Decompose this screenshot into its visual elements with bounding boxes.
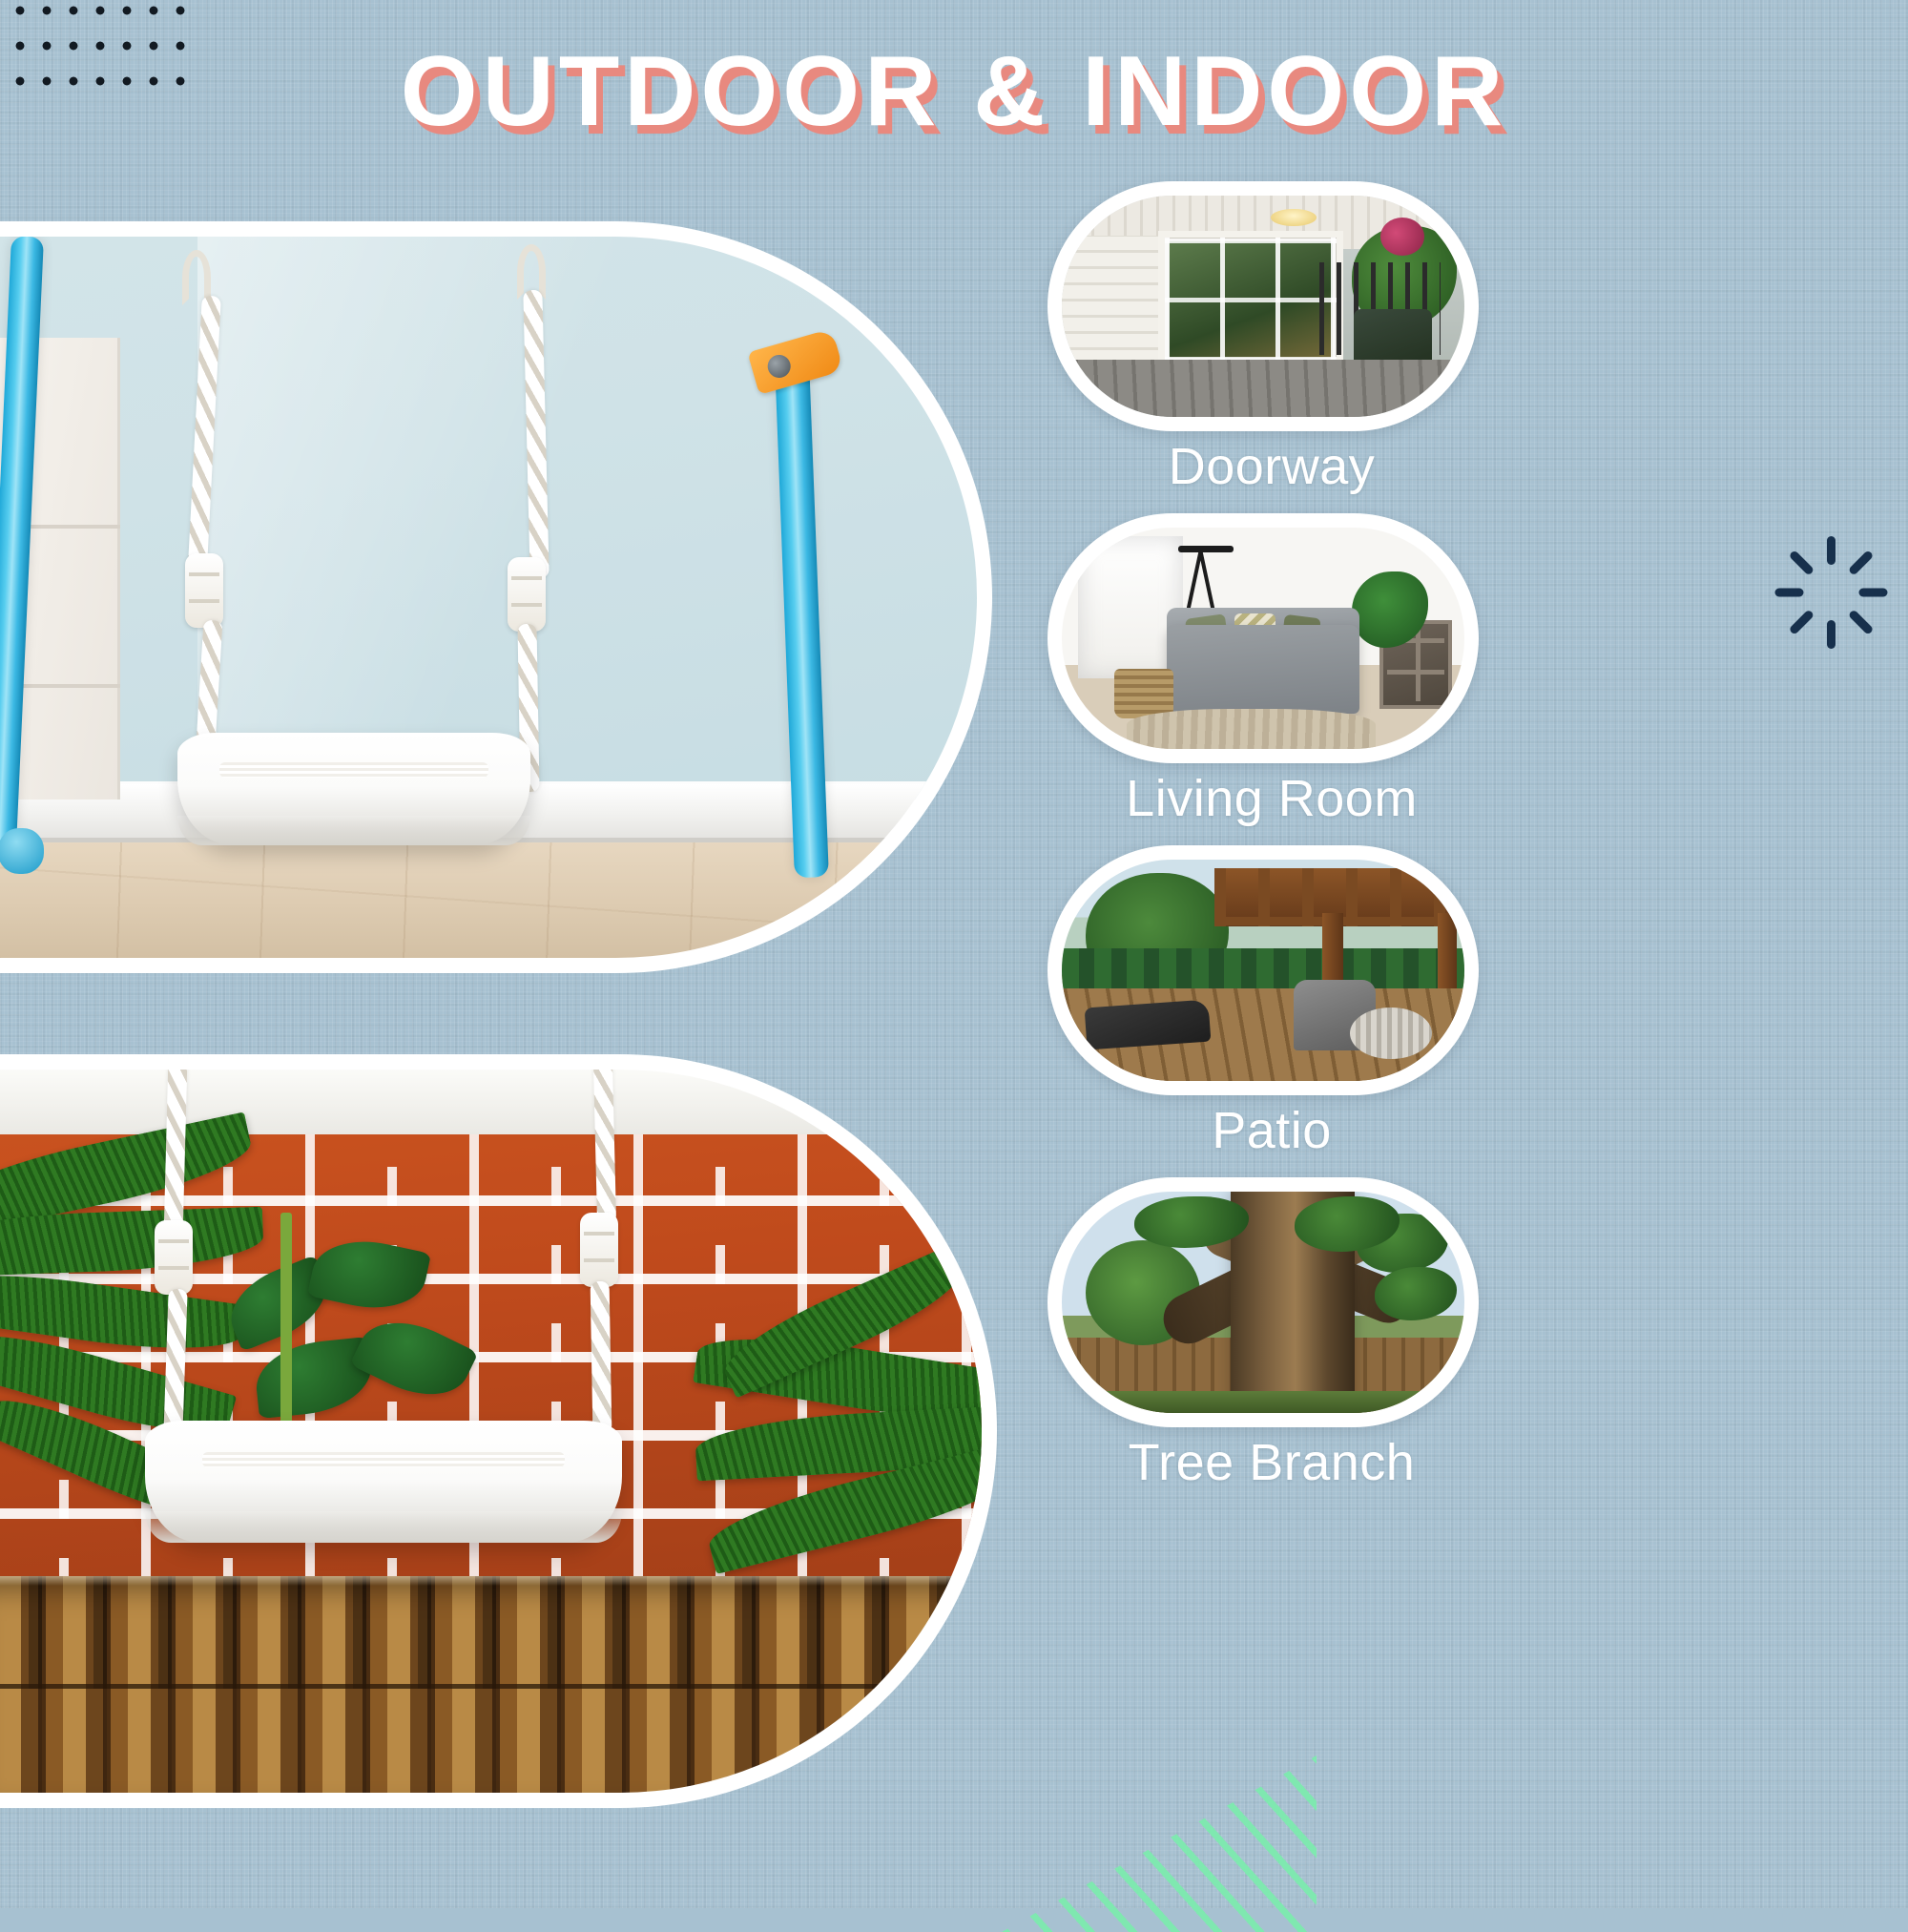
- sunburst-decoration: [1761, 523, 1900, 662]
- usage-item-tree-branch[interactable]: Tree Branch: [1047, 1177, 1496, 1492]
- page-title-container: OUTDOOR & INDOOR: [0, 40, 1908, 144]
- sunburst-ray: [1827, 620, 1835, 649]
- indoor-swing-photo-image: [0, 237, 977, 958]
- doorway-scene: [1062, 196, 1464, 417]
- porch-decking: [1062, 360, 1464, 417]
- sunburst-ray: [1858, 589, 1887, 597]
- usage-label-patio: Patio: [1047, 1101, 1496, 1160]
- floor-lamp-top: [1178, 546, 1234, 552]
- indoor-wall-light: [197, 237, 657, 800]
- sofa: [1167, 625, 1360, 714]
- sunburst-ray: [1788, 550, 1815, 576]
- sliding-glass-door: [1158, 231, 1343, 368]
- usage-label-tree-branch: Tree Branch: [1047, 1433, 1496, 1492]
- patio-table: [1350, 1008, 1432, 1059]
- porch-light: [1271, 209, 1317, 226]
- house-siding: [1062, 236, 1158, 364]
- indoor-wood-floor: [0, 842, 977, 958]
- usage-item-living-room[interactable]: Living Room: [1047, 513, 1496, 828]
- usage-label-doorway: Doorway: [1047, 437, 1496, 496]
- swing-frame-foot-left: [0, 828, 44, 874]
- swing-seat-lip: [177, 816, 530, 845]
- outdoor-swing-photo-image: [0, 1070, 982, 1793]
- sunburst-ray: [1827, 536, 1835, 565]
- rope-right-upper: [593, 1070, 616, 1224]
- swing-seat: [145, 1421, 622, 1543]
- usage-label-living-room: Living Room: [1047, 769, 1496, 828]
- outdoor-scene: [0, 1070, 982, 1793]
- area-rug: [1127, 709, 1377, 749]
- rope-sleeve-right: [580, 1213, 618, 1287]
- indoor-swing-photo: [0, 221, 992, 973]
- tree-branch-scene: [1062, 1192, 1464, 1413]
- hanging-flower-basket: [1380, 218, 1424, 256]
- doorway-thumbnail-image: [1062, 196, 1464, 417]
- hedge: [1062, 948, 1464, 988]
- swing-seat-lip: [145, 1511, 622, 1543]
- tree-foliage: [1375, 1267, 1457, 1320]
- living-room-scene: [1062, 528, 1464, 749]
- indoor-scene: [0, 237, 977, 958]
- tree-branch-thumbnail[interactable]: [1047, 1177, 1479, 1427]
- living-room-thumbnail-image: [1062, 528, 1464, 749]
- rope-right-lower: [591, 1281, 612, 1434]
- plant-stem: [280, 1213, 292, 1432]
- sunburst-ray: [1788, 609, 1815, 635]
- patio-thumbnail-image: [1062, 860, 1464, 1081]
- sun-lounger: [1085, 999, 1212, 1049]
- doorway-thumbnail[interactable]: [1047, 181, 1479, 431]
- tree-branch-thumbnail-image: [1062, 1192, 1464, 1413]
- sunburst-ray: [1847, 550, 1874, 576]
- living-room-thumbnail[interactable]: [1047, 513, 1479, 763]
- swing-seat: [177, 733, 530, 845]
- usage-item-patio[interactable]: Patio: [1047, 845, 1496, 1160]
- rope-sleeve-right: [508, 557, 546, 632]
- usage-item-doorway[interactable]: Doorway: [1047, 181, 1496, 496]
- outdoor-upper-wall: [0, 1070, 982, 1142]
- woven-basket: [1114, 669, 1173, 718]
- usage-scenarios-list: Doorway: [1047, 181, 1496, 1509]
- sunburst-ray: [1847, 609, 1874, 635]
- patio-scene: [1062, 860, 1464, 1081]
- rope-sleeve-left: [155, 1220, 193, 1295]
- sunburst-ray: [1774, 589, 1803, 597]
- lawn: [1062, 1391, 1464, 1413]
- outdoor-log-border: [0, 1576, 982, 1793]
- outdoor-swing-photo: [0, 1054, 997, 1808]
- page-title: OUTDOOR & INDOOR: [401, 40, 1507, 144]
- patio-thumbnail[interactable]: [1047, 845, 1479, 1095]
- rope-sleeve-left: [185, 553, 223, 628]
